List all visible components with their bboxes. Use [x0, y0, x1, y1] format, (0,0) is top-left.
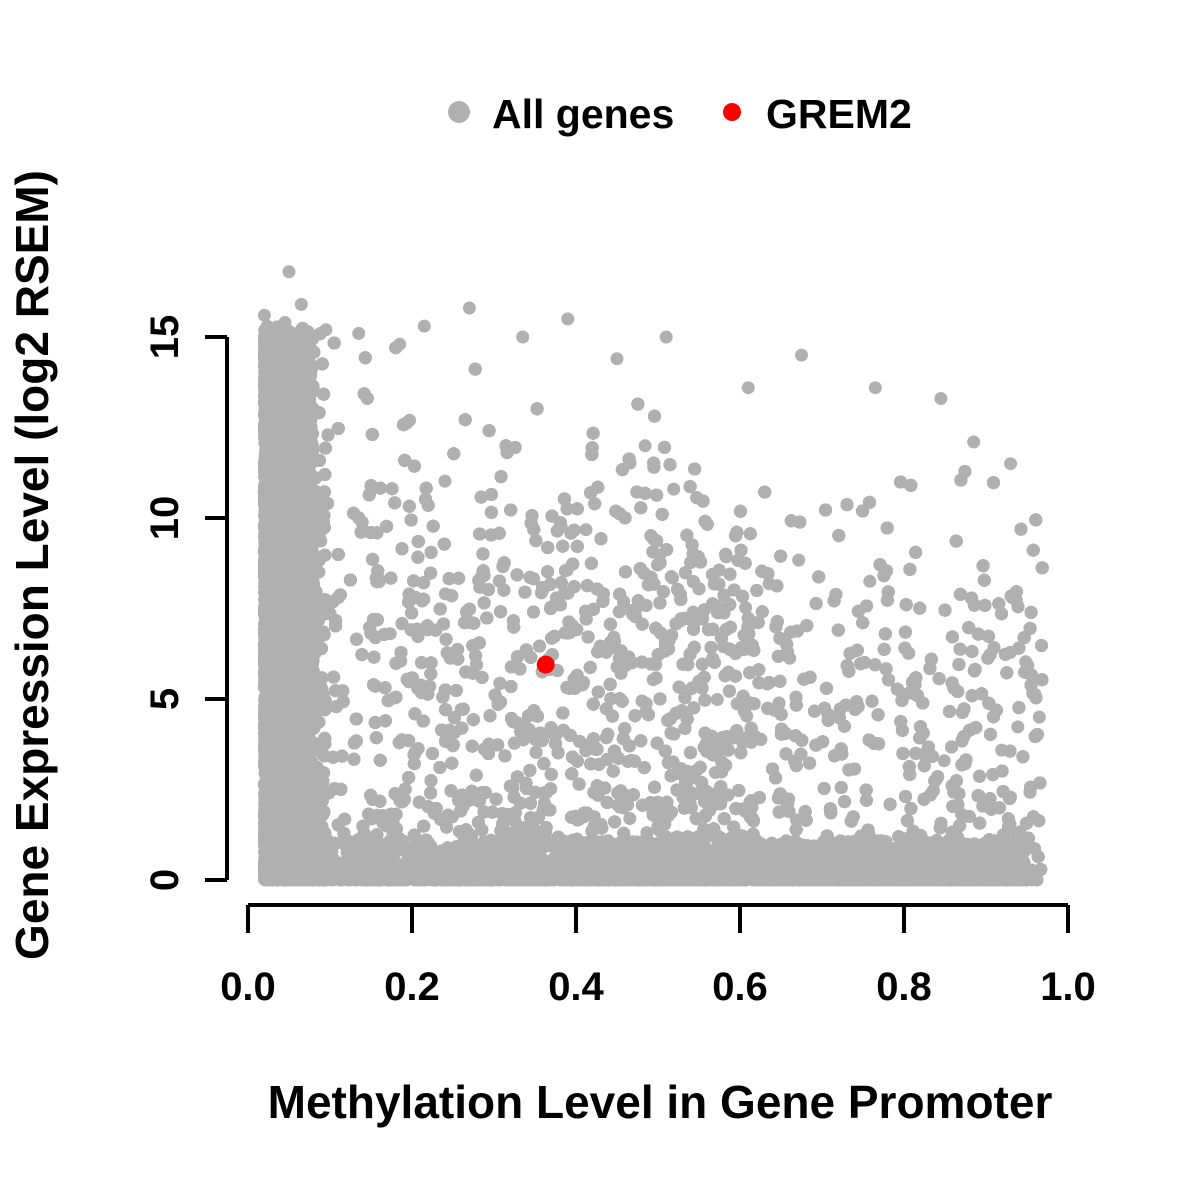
data-points-layer [258, 265, 1049, 886]
legend-marker-grem2 [723, 103, 741, 121]
legend: All genes GREM2 [448, 91, 912, 137]
data-point [863, 575, 876, 588]
plot-canvas: All genes GREM2 15 10 5 0 Gene Expressio… [0, 0, 1200, 1200]
data-point [938, 754, 951, 767]
legend-label-all-genes: All genes [492, 91, 674, 137]
legend-marker-all-genes [448, 101, 470, 123]
scatter-plot-figure: All genes GREM2 15 10 5 0 Gene Expressio… [0, 0, 1200, 1200]
data-point [623, 812, 636, 825]
data-point [792, 554, 805, 567]
data-point [580, 523, 593, 536]
legend-label-grem2: GREM2 [766, 91, 912, 137]
data-point [711, 693, 724, 706]
data-point [639, 439, 652, 452]
data-point [439, 475, 452, 488]
data-point [667, 483, 680, 496]
data-point [1011, 720, 1024, 733]
